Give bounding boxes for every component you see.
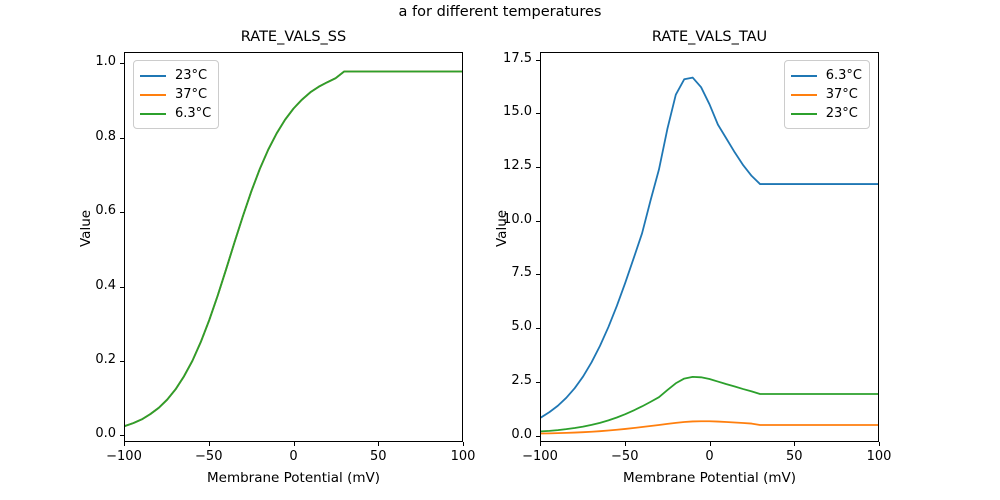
legend-color-swatch xyxy=(140,75,166,77)
x-tick-mark xyxy=(625,442,626,446)
y-tick-label: 17.5 xyxy=(480,51,532,66)
subplot-title-tau: RATE_VALS_TAU xyxy=(540,29,879,45)
x-tick-label: −100 xyxy=(84,449,164,464)
x-tick-mark xyxy=(209,442,210,446)
y-tick-label: 0.4 xyxy=(64,278,116,293)
y-tick-mark xyxy=(536,274,540,275)
legend-color-swatch xyxy=(791,94,817,96)
y-tick-label: 1.0 xyxy=(64,54,116,69)
legend-label: 37°C xyxy=(175,87,207,102)
y-tick-label: 0.0 xyxy=(64,426,116,441)
legend-ss[interactable]: 23°C37°C6.3°C xyxy=(133,60,219,129)
y-tick-mark xyxy=(120,435,124,436)
legend-color-swatch xyxy=(140,113,166,115)
x-tick-label: 50 xyxy=(338,449,418,464)
legend-entry[interactable]: 6.3°C xyxy=(140,104,211,123)
legend-color-swatch xyxy=(791,75,817,77)
y-tick-label: 12.5 xyxy=(480,158,532,173)
x-tick-label: 0 xyxy=(670,449,750,464)
legend-entry[interactable]: 23°C xyxy=(791,104,862,123)
legend-label: 23°C xyxy=(826,106,858,121)
figure-suptitle: a for different temperatures xyxy=(0,4,1000,20)
y-tick-label: 7.5 xyxy=(480,265,532,280)
legend-label: 23°C xyxy=(175,68,207,83)
x-tick-label: −50 xyxy=(585,449,665,464)
ylabel-tau: Value xyxy=(494,210,510,247)
y-tick-label: 2.5 xyxy=(480,373,532,388)
x-tick-mark xyxy=(794,442,795,446)
legend-color-swatch xyxy=(140,94,166,96)
legend-entry[interactable]: 37°C xyxy=(140,85,211,104)
xlabel-tau: Membrane Potential (mV) xyxy=(540,470,879,486)
x-tick-mark xyxy=(710,442,711,446)
x-tick-label: 100 xyxy=(423,449,503,464)
ylabel-ss: Value xyxy=(78,210,94,247)
y-tick-mark xyxy=(120,212,124,213)
y-tick-label: 0.0 xyxy=(480,427,532,442)
x-tick-label: 0 xyxy=(254,449,334,464)
x-tick-mark xyxy=(540,442,541,446)
legend-entry[interactable]: 37°C xyxy=(791,85,862,104)
series-line xyxy=(541,377,878,432)
matplotlib-figure: a for different temperatures RATE_VALS_S… xyxy=(0,0,1000,500)
legend-label: 37°C xyxy=(826,87,858,102)
xlabel-ss: Membrane Potential (mV) xyxy=(124,470,463,486)
series-line xyxy=(541,421,878,433)
y-tick-label: 0.8 xyxy=(64,129,116,144)
legend-label: 6.3°C xyxy=(175,106,211,121)
legend-entry[interactable]: 23°C xyxy=(140,66,211,85)
legend-color-swatch xyxy=(791,113,817,115)
x-tick-mark xyxy=(463,442,464,446)
x-tick-mark xyxy=(294,442,295,446)
y-tick-mark xyxy=(536,328,540,329)
x-tick-mark xyxy=(879,442,880,446)
y-tick-mark xyxy=(536,436,540,437)
y-tick-mark xyxy=(120,361,124,362)
y-tick-mark xyxy=(536,60,540,61)
y-tick-mark xyxy=(120,287,124,288)
x-tick-mark xyxy=(378,442,379,446)
y-tick-mark xyxy=(120,138,124,139)
y-tick-label: 5.0 xyxy=(480,319,532,334)
x-tick-label: −50 xyxy=(169,449,249,464)
subplot-title-ss: RATE_VALS_SS xyxy=(124,29,463,45)
y-tick-mark xyxy=(536,167,540,168)
x-tick-label: 50 xyxy=(754,449,834,464)
x-tick-label: −100 xyxy=(500,449,580,464)
y-tick-label: 0.2 xyxy=(64,352,116,367)
y-tick-label: 15.0 xyxy=(480,104,532,119)
y-tick-mark xyxy=(536,382,540,383)
legend-entry[interactable]: 6.3°C xyxy=(791,66,862,85)
y-tick-mark xyxy=(536,221,540,222)
y-tick-mark xyxy=(536,113,540,114)
x-tick-mark xyxy=(124,442,125,446)
legend-tau[interactable]: 6.3°C37°C23°C xyxy=(784,60,870,129)
x-tick-label: 100 xyxy=(839,449,919,464)
y-tick-mark xyxy=(120,63,124,64)
legend-label: 6.3°C xyxy=(826,68,862,83)
